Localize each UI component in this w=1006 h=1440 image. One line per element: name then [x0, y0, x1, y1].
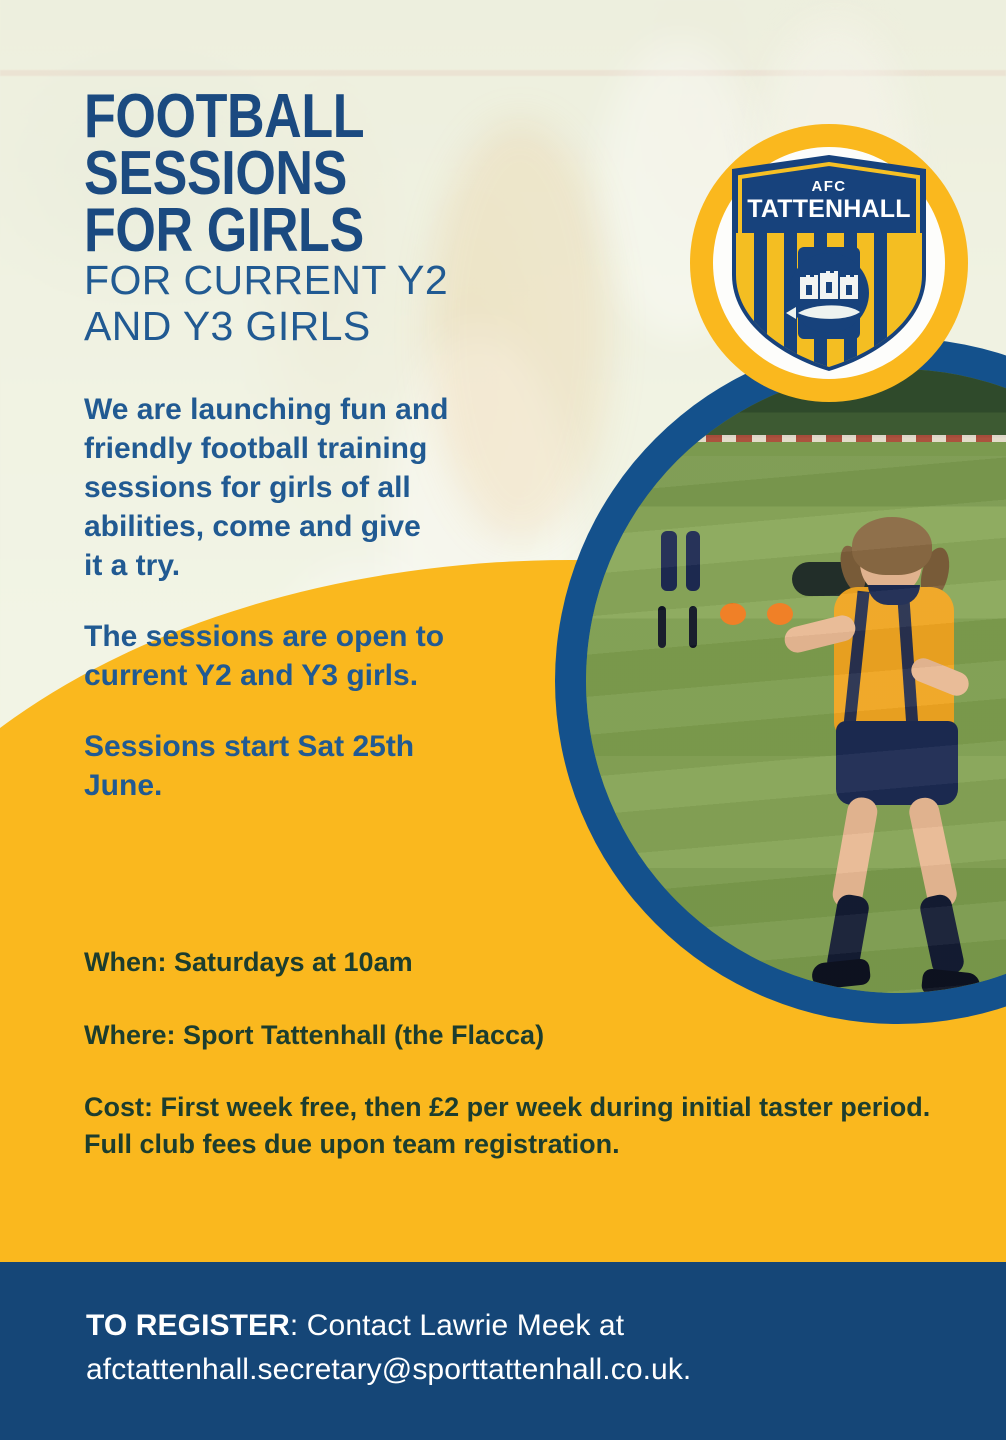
shirt-collar: [868, 585, 920, 605]
afc-tattenhall-crest-icon: AFC TATTENHALL: [724, 155, 934, 371]
background-kneeling-player: [792, 562, 887, 596]
badge-top-text: AFC: [811, 178, 846, 195]
training-cone: [767, 603, 793, 625]
football-pitch-scene: [586, 369, 1006, 993]
photo-circle-image: [586, 369, 1006, 993]
registration-info: TO REGISTER: Contact Lawrie Meek at afct…: [86, 1304, 920, 1393]
player-leg: [831, 795, 880, 911]
body-paragraph: Sessions start Sat 25th June.: [84, 727, 534, 805]
background-player-leg: [658, 606, 666, 648]
contact-line: : Contact Lawrie Meek at: [290, 1309, 624, 1342]
background-player-leg: [689, 606, 697, 648]
player-arm: [782, 613, 858, 656]
background-player: [661, 531, 677, 591]
contact-email[interactable]: afctattenhall.secretary@sporttattenhall.…: [86, 1353, 691, 1386]
detail-where: Where: Sport Tattenhall (the Flacca): [84, 1017, 644, 1054]
player-hair: [852, 517, 932, 575]
shirt-stripe: [897, 591, 919, 736]
badge-main-text: TATTENHALL: [747, 195, 911, 223]
training-cone: [720, 603, 746, 625]
shirt-stripe: [843, 591, 870, 736]
body-copy: We are launching fun and friendly footba…: [84, 390, 534, 805]
player-shorts: [836, 721, 958, 805]
background-player: [686, 531, 700, 591]
hair-ponytail: [916, 545, 954, 604]
page-title: FOOTBALL SESSIONS FOR GIRLS: [84, 88, 588, 259]
player-leg: [907, 795, 960, 911]
session-details: When: Saturdays at 10am Where: Sport Tat…: [84, 944, 944, 1163]
body-paragraph: We are launching fun and friendly footba…: [84, 390, 534, 585]
badge-white-ring: AFC TATTENHALL: [713, 147, 945, 379]
player-arm: [908, 655, 973, 700]
player-head: [860, 525, 922, 595]
club-badge: AFC TATTENHALL: [690, 124, 968, 402]
poster-canvas: AFC TATTENHALL FOOTBALL SES: [0, 0, 1006, 1440]
page-subtitle: FOR CURRENT Y2 AND Y3 GIRLS: [84, 258, 604, 350]
register-label: TO REGISTER: [86, 1309, 290, 1342]
player-shirt: [834, 587, 954, 737]
footer-bar: TO REGISTER: Contact Lawrie Meek at afct…: [0, 1262, 1006, 1440]
detail-cost: Cost: First week free, then £2 per week …: [84, 1089, 934, 1162]
body-paragraph: The sessions are open to current Y2 and …: [84, 617, 534, 695]
foreground-girl-player: [798, 525, 998, 993]
detail-when: When: Saturdays at 10am: [84, 944, 604, 981]
photo-circle-ring: [555, 338, 1006, 1024]
hair-ponytail: [836, 543, 870, 595]
